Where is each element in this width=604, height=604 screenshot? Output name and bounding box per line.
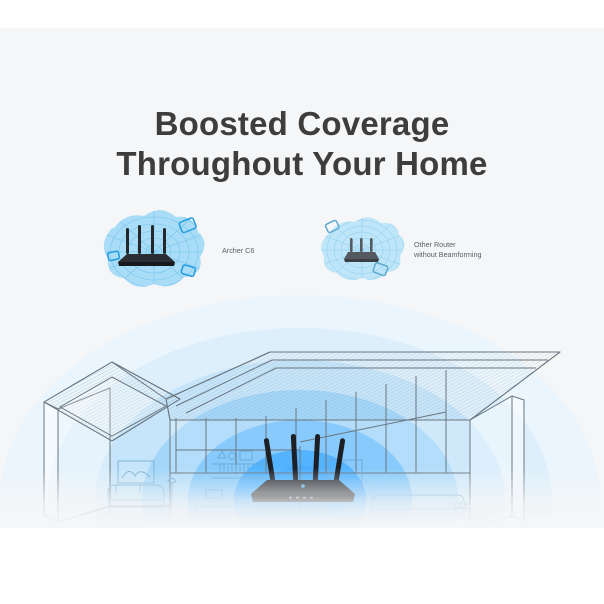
promo-image: Archer C6: [0, 0, 604, 604]
page-title: Boosted Coverage Throughout Your Home: [0, 104, 604, 184]
router-antennas: [264, 434, 346, 482]
comparison-right-graphic: [316, 214, 408, 284]
comparison-left-graphic: [96, 208, 216, 292]
router-illustration: [243, 432, 361, 512]
content-panel: Archer C6: [0, 28, 604, 528]
coverage-area: [321, 217, 404, 280]
brand-logo-icon: [301, 484, 305, 488]
headline-line-1: Boosted Coverage: [155, 105, 450, 142]
comparison-left-label: Archer C6: [222, 246, 254, 256]
other-router-coverage-blob: [316, 214, 408, 284]
archer-c6-coverage-blob: [96, 208, 216, 292]
headline-line-2: Throughout Your Home: [0, 144, 604, 184]
comparison-right-label: Other Router without Beamforming: [414, 240, 482, 259]
archer-c6-router-main: [243, 432, 361, 512]
